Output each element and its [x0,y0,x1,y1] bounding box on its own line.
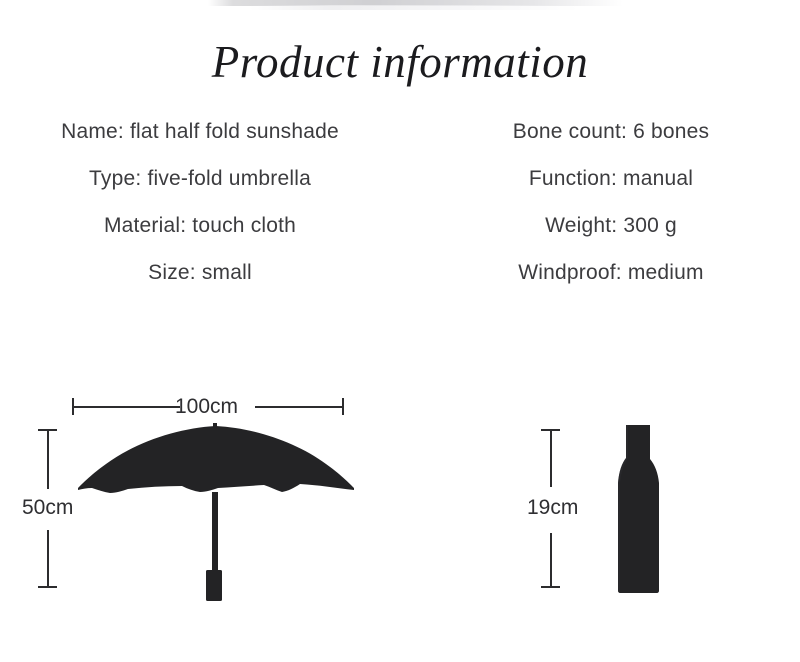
folded-umbrella-icon [612,425,664,593]
folded-height-dimension-label: 19cm [527,496,578,520]
folded-height-dimension-line-bottom [550,533,552,588]
folded-height-dimension-cap-top [541,429,560,431]
folded-height-dimension-cap-bottom [541,586,560,588]
folded-height-dimension-line-top [550,429,552,487]
folded-umbrella-figure: 19cm [0,0,800,662]
product-information-page: Product information Name: flat half fold… [0,0,800,662]
